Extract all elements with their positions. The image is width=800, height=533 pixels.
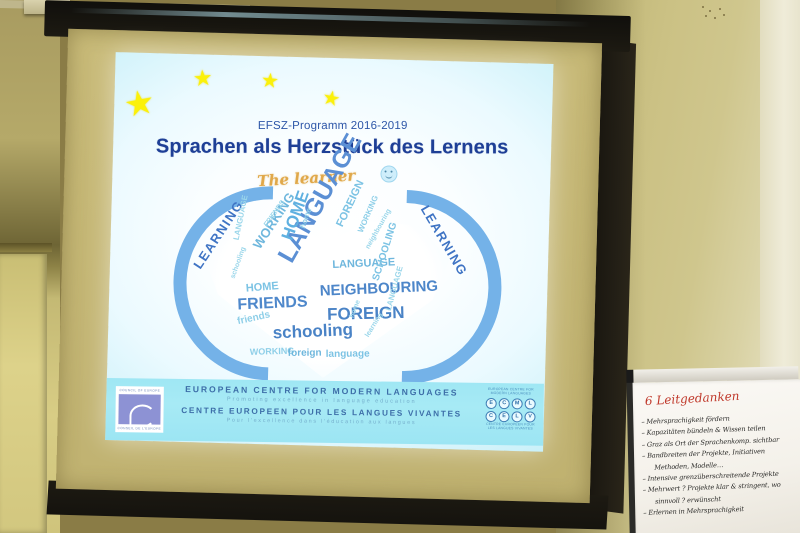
slide-footer-band: COUNCIL OF EUROPE CONSEIL DE L'EUROPE EU… bbox=[105, 378, 544, 446]
ecml-letter-e: E bbox=[498, 411, 509, 422]
screen-surface: ★ ★ ★ ★ EFSZ-Programm 2016-2019 Sprachen… bbox=[56, 29, 602, 503]
ecml-letter-c: C bbox=[485, 410, 496, 421]
coe-logo-label-top: COUNCIL OF EUROPE bbox=[116, 388, 164, 393]
flipchart-item-list: – Mehrsprachigkeit fördern– Kapazitäten … bbox=[641, 413, 800, 519]
flipchart: 6 Leitgedanken – Mehrsprachigkeit förder… bbox=[626, 366, 800, 533]
ecml-letter-v: V bbox=[524, 411, 535, 422]
wall-marks bbox=[700, 4, 734, 28]
ecml-letter-c: C bbox=[499, 398, 510, 409]
word-cloud-term: schooling bbox=[272, 321, 353, 341]
ecml-letters-row-2: CELV bbox=[483, 410, 537, 422]
footer-line-en-tagline: Promoting excellence in language educati… bbox=[172, 396, 472, 406]
star-icon-1: ★ bbox=[121, 84, 157, 123]
ecml-caption-top: EUROPEAN CENTRE FOR MODERN LANGUAGES bbox=[484, 387, 538, 396]
footer-line-fr-tagline: Pour l'excellence dans l'éducation aux l… bbox=[171, 417, 471, 427]
word-cloud: LANGUAGENEIGHBOURINGFOREIGNFRIENDSschool… bbox=[213, 205, 446, 387]
heart-graphic: LEARNING LEARNING LANGUAGENEIGHBOURINGFO… bbox=[164, 180, 490, 411]
ecml-letter-e: E bbox=[486, 397, 497, 408]
projected-slide: ★ ★ ★ ★ EFSZ-Programm 2016-2019 Sprachen… bbox=[105, 52, 553, 452]
star-icon-3: ★ bbox=[260, 69, 280, 91]
ecml-letter-m: M bbox=[512, 398, 523, 409]
ecml-caption-bottom: CENTRE EUROPEEN POUR LES LANGUES VIVANTE… bbox=[483, 421, 537, 430]
coe-e-glyph-icon bbox=[129, 404, 155, 427]
ecml-logo: EUROPEAN CENTRE FOR MODERN LANGUAGES ECM… bbox=[483, 387, 538, 440]
star-icon-2: ★ bbox=[192, 68, 213, 91]
coe-logo-label-bottom: CONSEIL DE L'EUROPE bbox=[115, 426, 163, 431]
projection-screen: ★ ★ ★ ★ EFSZ-Programm 2016-2019 Sprachen… bbox=[31, 0, 631, 533]
ecml-letter-l: L bbox=[525, 398, 536, 409]
screen-casing-highlight bbox=[71, 8, 591, 27]
word-cloud-term: foreign bbox=[288, 349, 322, 359]
eu-stars-group: ★ ★ ★ ★ bbox=[118, 64, 359, 124]
word-cloud-term: language bbox=[326, 350, 370, 360]
ecml-letter-l: L bbox=[511, 411, 522, 422]
coe-flag-icon bbox=[118, 394, 160, 425]
flipchart-paper: 6 Leitgedanken – Mehrsprachigkeit förder… bbox=[633, 379, 800, 533]
star-icon-4: ★ bbox=[321, 86, 343, 109]
footer-text-block: EUROPEAN CENTRE FOR MODERN LANGUAGES Pro… bbox=[171, 384, 471, 427]
slide-subtitle: EFSZ-Programm 2016-2019 bbox=[114, 120, 552, 132]
ecml-letters-row-1: ECML bbox=[484, 397, 538, 409]
word-cloud-term: schooling bbox=[230, 246, 248, 279]
word-cloud-term: HOME bbox=[245, 281, 279, 295]
flipchart-title: 6 Leitgedanken bbox=[645, 389, 740, 408]
right-wall-corner bbox=[760, 0, 800, 400]
council-of-europe-logo: COUNCIL OF EUROPE CONSEIL DE L'EUROPE bbox=[115, 386, 164, 433]
conference-room-photo: ★ ★ ★ ★ EFSZ-Programm 2016-2019 Sprachen… bbox=[0, 0, 800, 533]
word-cloud-term: FRIENDS bbox=[237, 294, 308, 313]
